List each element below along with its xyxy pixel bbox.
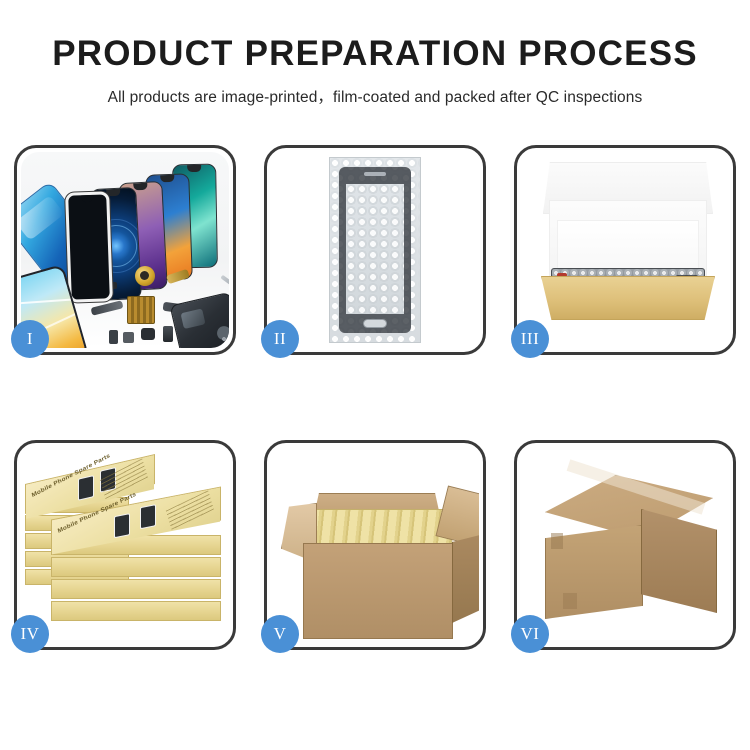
box-lid-spec-lines (166, 490, 214, 530)
copper-coil-part (135, 266, 155, 286)
box-label-text: Mobile Phone Spare Parts (31, 452, 111, 499)
box-stack: Mobile Phone Spare Parts (25, 463, 229, 643)
box-lid-phone-image (78, 475, 94, 501)
stacked-box (51, 557, 221, 577)
process-step-4: Mobile Phone Spare Parts (14, 440, 236, 650)
earpiece-slot (364, 172, 386, 176)
step-5-image (271, 447, 479, 643)
box-lid-spec-lines (100, 458, 148, 500)
flex-cable-a (91, 300, 124, 316)
carton-front-wall (303, 543, 453, 639)
step-badge-2: II (261, 320, 299, 358)
carton-seam-upper (551, 533, 563, 549)
process-step-6: VI (514, 440, 736, 650)
battery-part (163, 326, 173, 342)
screen-frame (339, 167, 411, 333)
home-button (363, 319, 387, 328)
step-4-image: Mobile Phone Spare Parts (21, 447, 229, 643)
process-step-5: V (264, 440, 486, 650)
carton-seam-lower (563, 593, 577, 609)
process-step-3: III (514, 145, 736, 355)
inner-box-front-wall (541, 276, 715, 320)
stacked-box (51, 579, 221, 599)
stacked-box (51, 601, 221, 621)
step-1-image (21, 152, 229, 348)
page-title: PRODUCT PREPARATION PROCESS (0, 34, 750, 74)
button-part (109, 330, 118, 344)
carton-side-wall (452, 531, 479, 623)
step-badge-5: V (261, 615, 299, 653)
camera-module-part (141, 328, 155, 340)
process-step-grid: I II III (14, 145, 736, 650)
process-step-2: II (264, 145, 486, 355)
step-badge-4: IV (11, 615, 49, 653)
flex-cable-c (166, 269, 190, 284)
step-badge-3: III (511, 320, 549, 358)
step-badge-6: VI (511, 615, 549, 653)
header: PRODUCT PREPARATION PROCESS All products… (0, 0, 750, 107)
process-step-1: I (14, 145, 236, 355)
small-connector-part (123, 332, 134, 343)
step-badge-1: I (11, 320, 49, 358)
box-lid-phone-image (114, 513, 130, 538)
phone-white-bezel (65, 191, 113, 302)
box-lid-phone-image (140, 504, 156, 529)
bubble-wrapped-screen (329, 157, 421, 343)
gold-chip-grid-part (127, 296, 155, 324)
step-6-image (521, 447, 729, 643)
infographic-page: PRODUCT PREPARATION PROCESS All products… (0, 0, 750, 750)
screws-part (221, 336, 229, 348)
page-subtitle: All products are image-printed，film-coat… (0, 85, 750, 107)
step-3-image (521, 152, 729, 348)
sealed-carton-side (641, 509, 717, 613)
tweezer-tool (220, 275, 229, 294)
step-2-image (271, 152, 479, 348)
